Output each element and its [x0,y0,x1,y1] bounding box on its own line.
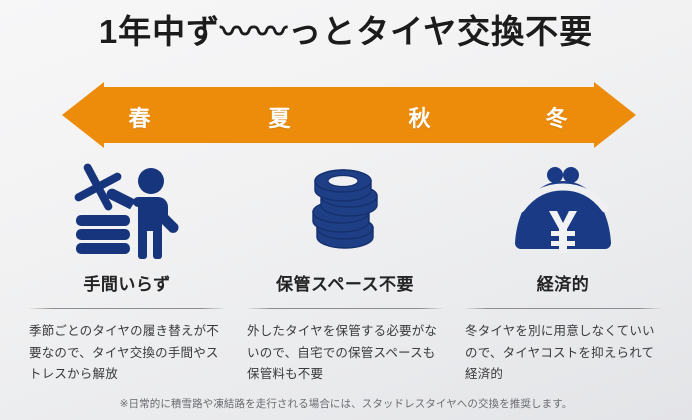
benefit-heading-1: 手間いらず [83,270,170,295]
benefit-divider-1 [29,308,225,309]
tire-wrench-person-icon [22,160,232,266]
stacked-tires-icon [240,160,450,266]
benefit-divider-3 [465,308,661,309]
benefit-column-2: 保管スペース不要 外したタイヤを保管する必要がないので、自宅での保管スペースも保… [236,160,454,386]
benefits-columns: 手間いらず 季節ごとのタイヤの履き替えが不要なので、タイヤ交換の手間やストレスか… [18,160,674,386]
seasons-double-arrow: 春 夏 秋 冬 [62,80,636,150]
benefit-body-3: 冬タイヤを別に用意しなくていいので、タイヤコストを抑えられて経済的 [465,321,661,386]
benefit-column-1: 手間いらず 季節ごとのタイヤの履き替えが不要なので、タイヤ交換の手間やストレスか… [18,160,236,386]
benefit-body-1: 季節ごとのタイヤの履き替えが不要なので、タイヤ交換の手間やストレスから解放 [29,321,225,386]
benefit-heading-3: 経済的 [537,270,590,295]
benefit-column-3: 経済的 冬タイヤを別に用意しなくていいので、タイヤコストを抑えられて経済的 [454,160,672,386]
page-title: 1年中ず〰〰っとタイヤ交換不要 [0,14,692,50]
season-label-spring: 春 [110,101,170,133]
season-label-winter: 冬 [527,101,587,133]
season-label-group: 春 夏 秋 冬 [62,80,636,150]
footnote-text: ※日常的に積雪路や凍結路を走行される場合には、スタッドレスタイヤへの交換を推奨し… [0,396,692,411]
season-label-autumn: 秋 [390,101,450,133]
coin-purse-yen-icon [458,160,668,266]
season-label-summer: 夏 [250,101,310,133]
benefit-heading-2: 保管スペース不要 [276,270,414,295]
title-area: 1年中ず〰〰っとタイヤ交換不要 [0,14,692,50]
benefit-body-2: 外したタイヤを保管する必要がないので、自宅での保管スペースも保管料も不要 [247,321,443,386]
benefit-divider-2 [247,308,443,309]
